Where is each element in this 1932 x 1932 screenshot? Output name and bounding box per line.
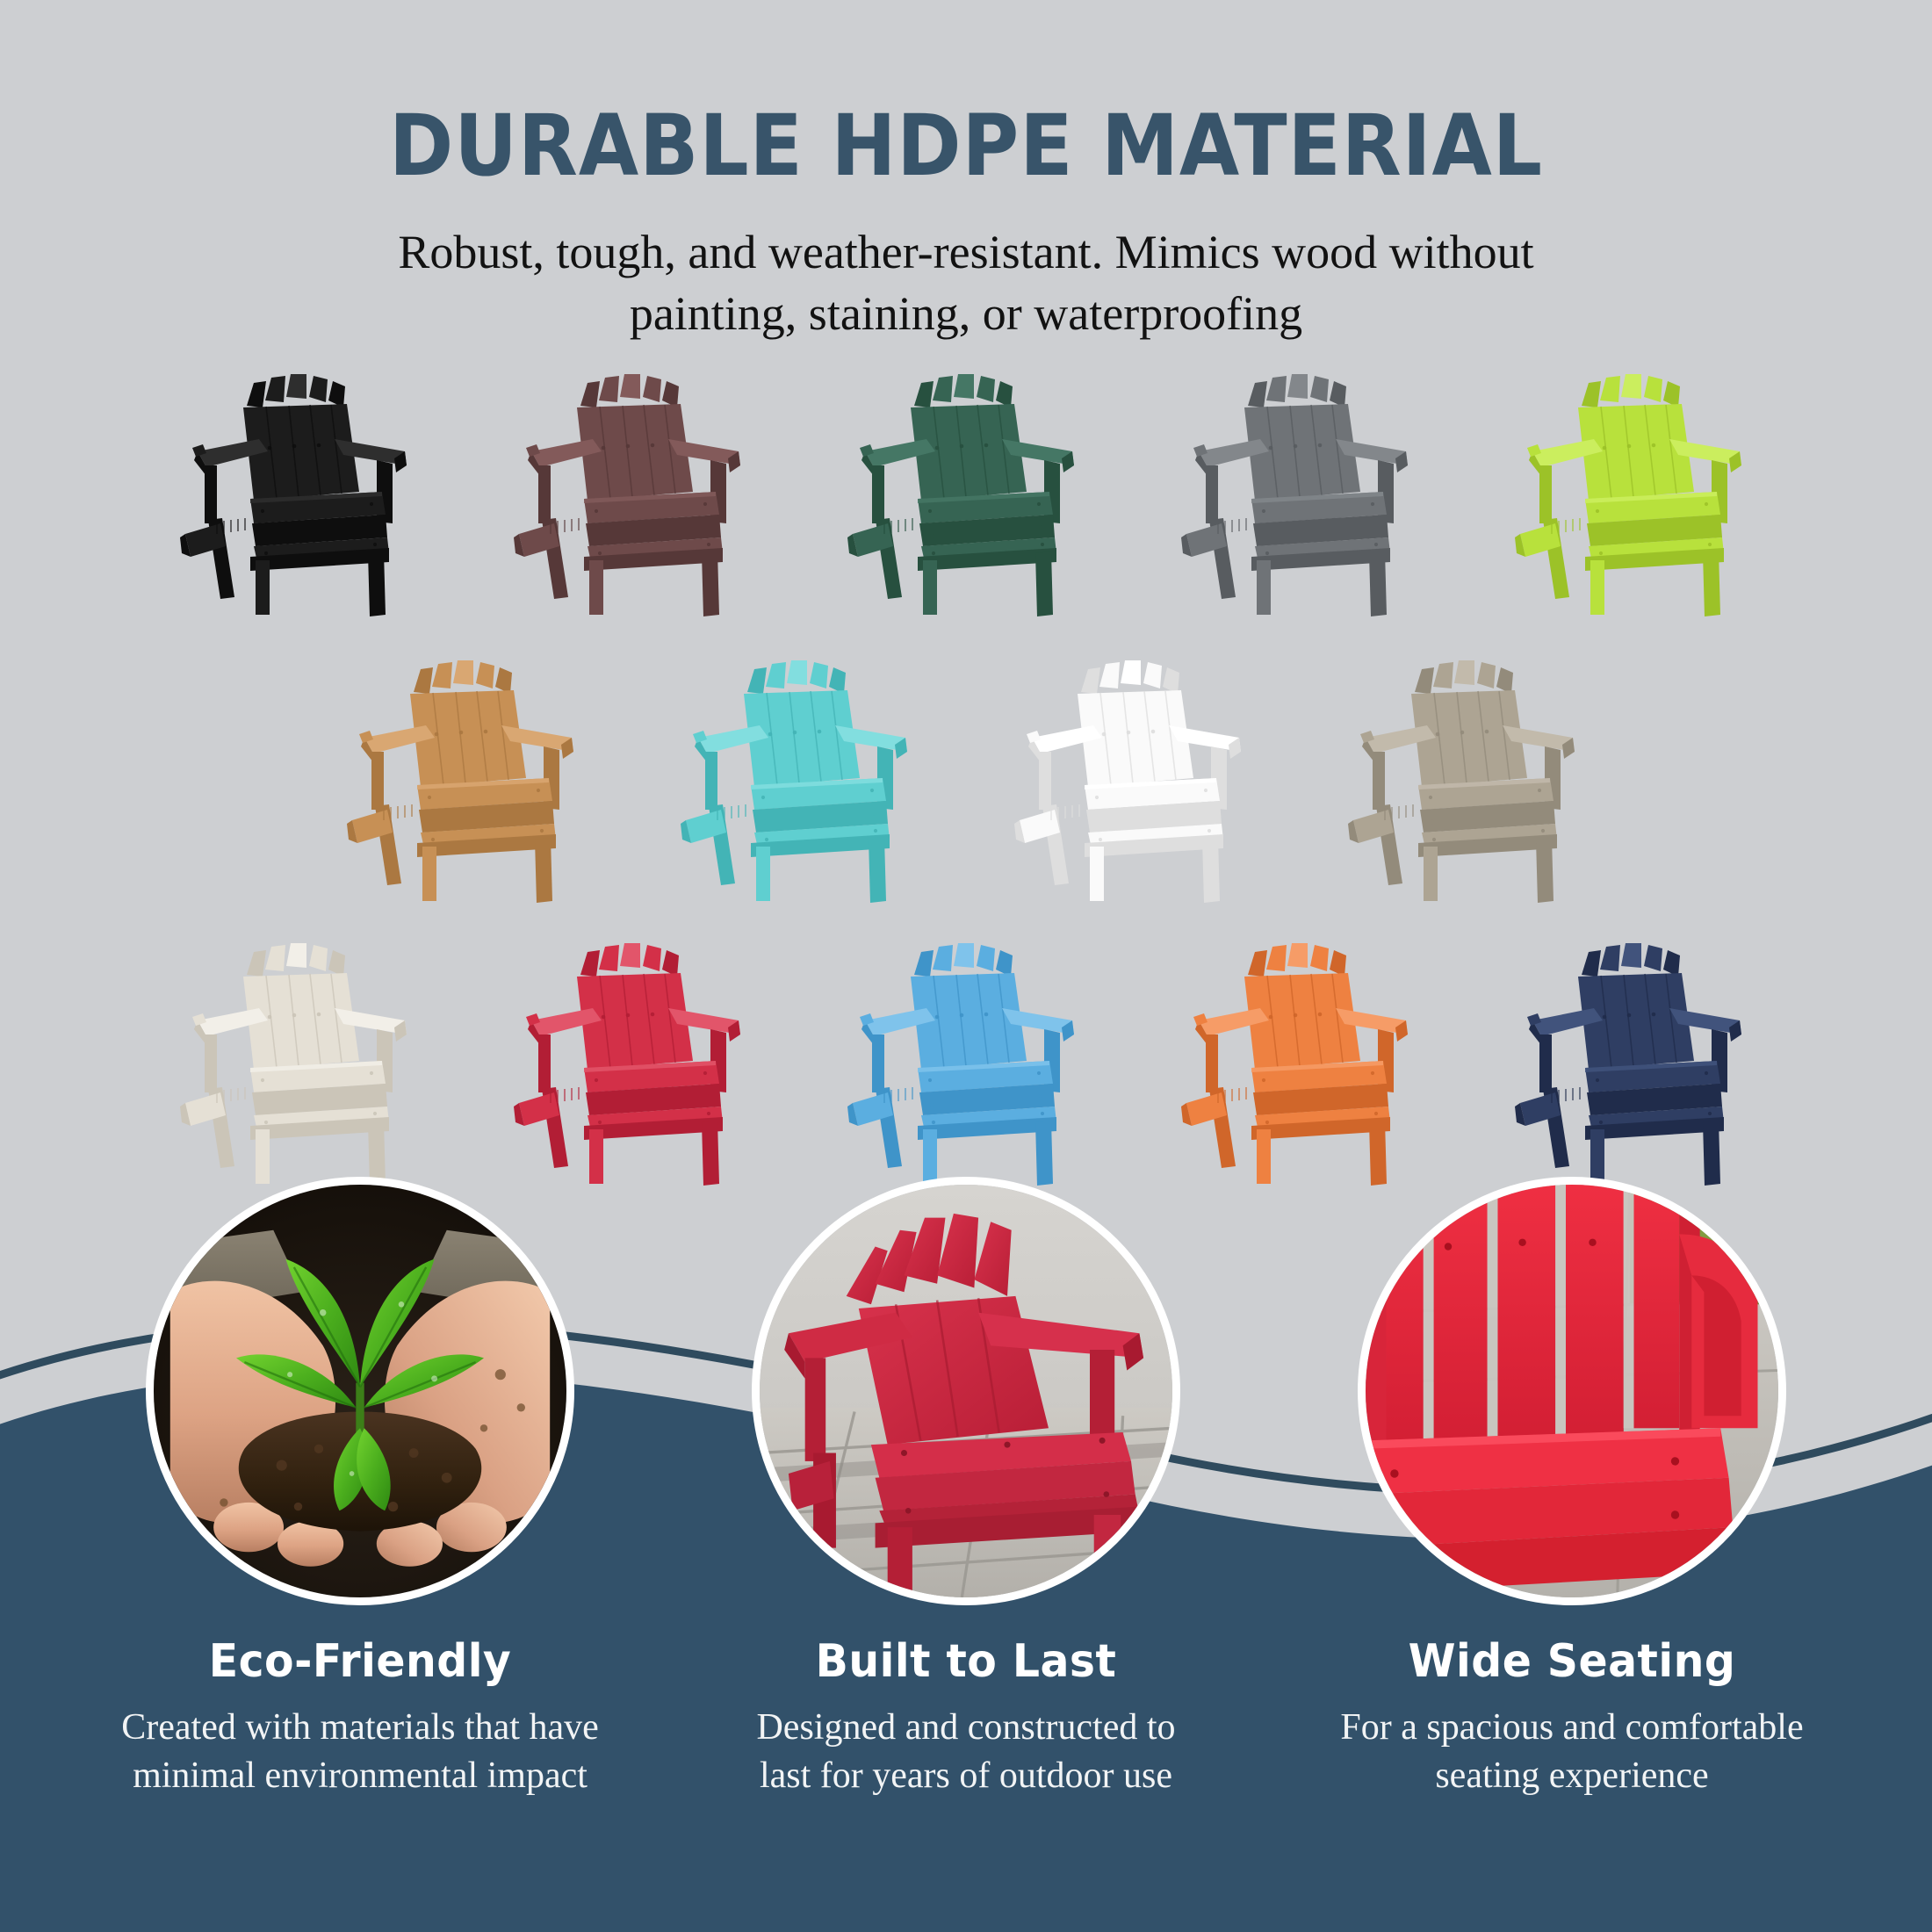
chair-weathered-wood[interactable] [1330,653,1603,917]
chair-front-right-leg [702,551,719,616]
chair-back-slats [747,660,846,694]
chair-back-slats [1248,943,1346,977]
chair-front-left-leg [589,560,603,615]
chair-navy-blue[interactable] [1497,936,1770,1200]
chair-front-left-leg [1590,1129,1604,1184]
chair-back-slats [1081,660,1179,694]
red-chair-wide-seat-icon [1366,1185,1778,1597]
chair-black[interactable] [162,367,435,631]
adirondack-chair-svg [162,936,435,1200]
adirondack-chair-svg [663,653,935,917]
hands-seedling-icon [154,1185,566,1597]
chair-front-left-leg [1257,1129,1271,1184]
adirondack-chair-svg [830,367,1102,631]
chair-back-slats [1415,660,1513,694]
adirondack-chair-svg [496,936,768,1200]
page-title: DURABLE HDPE MATERIAL [77,104,1855,188]
chair-orange[interactable] [1164,936,1436,1200]
header: DURABLE HDPE MATERIAL Robust, tough, and… [0,0,1932,344]
adirondack-chair-svg [496,367,768,631]
chair-back-slats [914,374,1013,407]
chair-front-right-leg [1035,1121,1053,1186]
subtitle-line-1: Robust, tough, and weather-resistant. Mi… [281,221,1651,283]
chair-front-left-leg [256,1129,270,1184]
chair-left-arm-support [872,465,884,523]
chair-left-arm-support [1539,1034,1552,1092]
chair-back-slats [1582,374,1680,407]
chair-left-arm-support [205,465,217,523]
chair-left-arm-support [872,1034,884,1092]
chair-ivory[interactable] [162,936,435,1200]
chair-red[interactable] [496,936,768,1200]
chair-front-left-leg [589,1129,603,1184]
feature-desc-line-2: minimal environmental impact [97,1752,624,1800]
features-section: Eco-Friendly Created with materials that… [0,1177,1932,1932]
chair-front-right-leg [368,551,386,616]
chair-front-right-leg [1703,1121,1720,1186]
chair-white[interactable] [997,653,1269,917]
feature-image-eco-friendly [146,1177,574,1605]
chair-front-right-leg [869,838,886,903]
feature-title-eco-friendly: Eco-Friendly [105,1635,616,1688]
feature-desc-eco-friendly: Created with materials that have minimal… [88,1704,632,1799]
chair-left-arm-support [1206,1034,1218,1092]
chair-front-left-leg [1257,560,1271,615]
feature-desc-line-2: last for years of outdoor use [703,1752,1229,1800]
adirondack-chair-svg [830,936,1102,1200]
chair-brown[interactable] [496,367,768,631]
adirondack-chair-svg [1497,936,1770,1200]
feature-image-built-to-last [752,1177,1180,1605]
chair-left-arm-support [205,1034,217,1092]
infographic-canvas: DURABLE HDPE MATERIAL Robust, tough, and… [0,0,1932,1932]
chair-front-left-leg [1090,847,1104,901]
chair-teak[interactable] [329,653,602,917]
chair-front-right-leg [1536,838,1554,903]
chair-back-slats [1582,943,1680,977]
feature-built-to-last: Built to Last Designed and constructed t… [694,1177,1238,1799]
chair-front-right-leg [368,1121,386,1186]
chair-back-slats [580,943,679,977]
chair-front-right-leg [1202,838,1220,903]
chair-back-slats [580,374,679,407]
chair-front-right-leg [1369,1121,1387,1186]
adirondack-chair-svg [1497,367,1770,631]
feature-desc-line-2: seating experience [1308,1752,1835,1800]
adirondack-chair-svg [1330,653,1603,917]
chair-back-slats [247,943,345,977]
chair-front-left-leg [256,560,270,615]
feature-desc-line-1: Created with materials that have [97,1704,624,1752]
feature-wide-seating: Wide Seating For a spacious and comforta… [1300,1177,1844,1799]
red-chair-patio-icon [760,1185,1172,1597]
chair-back-slats [414,660,512,694]
chair-row-3 [0,936,1932,1200]
chair-row-2 [0,653,1932,917]
chair-gray[interactable] [1164,367,1436,631]
chair-left-arm-support [538,465,551,523]
chair-front-right-leg [535,838,552,903]
chair-left-arm-support [538,1034,551,1092]
feature-desc-wide-seating: For a spacious and comfortable seating e… [1300,1704,1844,1799]
subtitle-line-2: painting, staining, or waterproofing [281,283,1651,344]
chair-front-right-leg [702,1121,719,1186]
chair-front-left-leg [756,847,770,901]
chair-left-arm-support [1539,465,1552,523]
adirondack-chair-svg [329,653,602,917]
adirondack-chair-svg [997,653,1269,917]
feature-eco-friendly: Eco-Friendly Created with materials that… [88,1177,632,1799]
chair-left-arm-support [1039,752,1051,810]
chair-row-1 [0,367,1932,631]
chair-back-slats [247,374,345,407]
feature-title-built-to-last: Built to Last [710,1635,1222,1688]
adirondack-chair-svg [1164,936,1436,1200]
chair-left-arm-support [371,752,384,810]
adirondack-chair-svg [162,367,435,631]
chair-front-left-leg [422,847,436,901]
chair-front-left-leg [923,1129,937,1184]
chair-color-grid [0,367,1932,1254]
chair-left-arm-support [705,752,717,810]
chair-back-slats [914,943,1013,977]
page-subtitle: Robust, tough, and weather-resistant. Mi… [281,221,1651,344]
chair-turquoise[interactable] [663,653,935,917]
chair-left-arm-support [1373,752,1385,810]
chair-front-right-leg [1035,551,1053,616]
adirondack-chair-svg [1164,367,1436,631]
chair-front-left-leg [1590,560,1604,615]
feature-desc-line-1: Designed and constructed to [703,1704,1229,1752]
feature-title-wide-seating: Wide Seating [1316,1635,1828,1688]
feature-desc-line-1: For a spacious and comfortable [1308,1704,1835,1752]
chair-left-arm-support [1206,465,1218,523]
feature-desc-built-to-last: Designed and constructed to last for yea… [694,1704,1238,1799]
feature-image-wide-seating [1358,1177,1786,1605]
chair-back-slats [1248,374,1346,407]
chair-front-left-leg [923,560,937,615]
chair-light-blue[interactable] [830,936,1102,1200]
chair-front-left-leg [1424,847,1438,901]
chair-front-right-leg [1369,551,1387,616]
chair-front-right-leg [1703,551,1720,616]
chair-dark-green[interactable] [830,367,1102,631]
chair-lime-green[interactable] [1497,367,1770,631]
